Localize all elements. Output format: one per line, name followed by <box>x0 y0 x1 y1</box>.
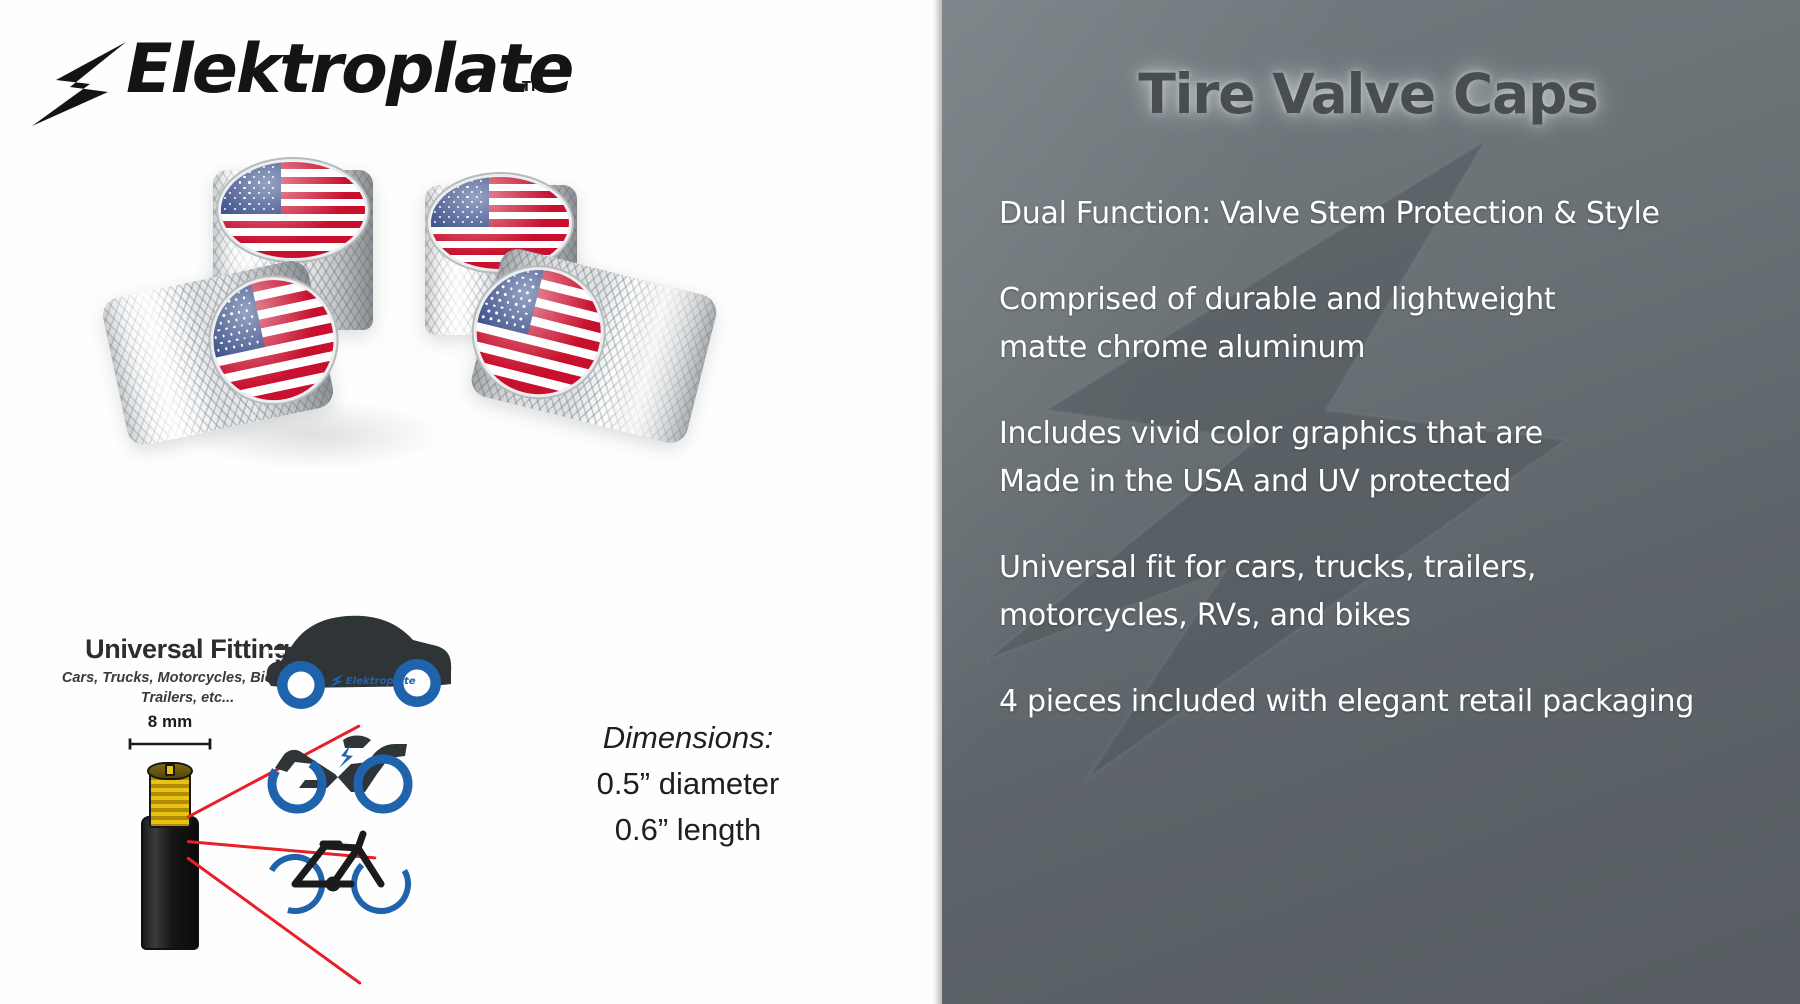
feature-item: 4 pieces included with elegant retail pa… <box>936 678 1800 726</box>
dimension-length: 0.6” length <box>548 807 828 853</box>
valve-stem-icon <box>127 750 213 950</box>
flag-gloss <box>202 269 344 411</box>
usa-flag-disc <box>221 162 365 258</box>
dimensions-text: Dimensions: 0.5” diameter 0.6” length <box>548 715 828 853</box>
car-icon: Elektroplate <box>255 606 455 716</box>
usa-flag-disc <box>431 177 569 269</box>
flag-gloss <box>431 177 569 269</box>
stem-pin <box>165 764 175 776</box>
brand-wordmark: Elektroplate <box>126 30 572 109</box>
bicycle-icon <box>263 822 423 922</box>
stem-rubber-body <box>141 816 199 950</box>
dimensions-heading: Dimensions: <box>548 715 828 761</box>
svg-text:Elektroplate: Elektroplate <box>346 676 416 687</box>
page-title: Tire Valve Caps <box>936 62 1800 126</box>
stem-measurement-label: 8 mm <box>125 712 215 732</box>
lightning-bolt-icon <box>30 40 128 128</box>
right-info-panel: Tire Valve Caps Dual Function: Valve Ste… <box>936 0 1800 1004</box>
trademark-mark: TM <box>522 80 544 95</box>
feature-item: Dual Function: Valve Stem Protection & S… <box>936 190 1800 238</box>
universal-fitting-section: Universal Fitting Cars, Trucks, Motorcyc… <box>55 600 525 980</box>
dimension-diameter: 0.5” diameter <box>548 761 828 807</box>
feature-item: Includes vivid color graphics that are M… <box>936 410 1800 506</box>
product-marketing-image: Elektroplate TM <box>0 0 1800 1004</box>
product-photo <box>95 150 755 510</box>
left-product-panel: Elektroplate TM <box>0 0 936 1004</box>
motorcycle-icon <box>265 722 425 822</box>
measurement-dimension-line <box>127 738 213 750</box>
flag-gloss <box>221 162 365 258</box>
feature-item: Universal fit for cars, trucks, trailers… <box>936 544 1800 640</box>
feature-list: Dual Function: Valve Stem Protection & S… <box>936 190 1800 726</box>
usa-flag-disc <box>202 269 344 411</box>
panel-divider <box>932 0 942 1004</box>
feature-item: Comprised of durable and lightweight mat… <box>936 276 1800 372</box>
brand-logo: Elektroplate TM <box>30 18 510 128</box>
valve-cap-front-right <box>468 245 720 446</box>
